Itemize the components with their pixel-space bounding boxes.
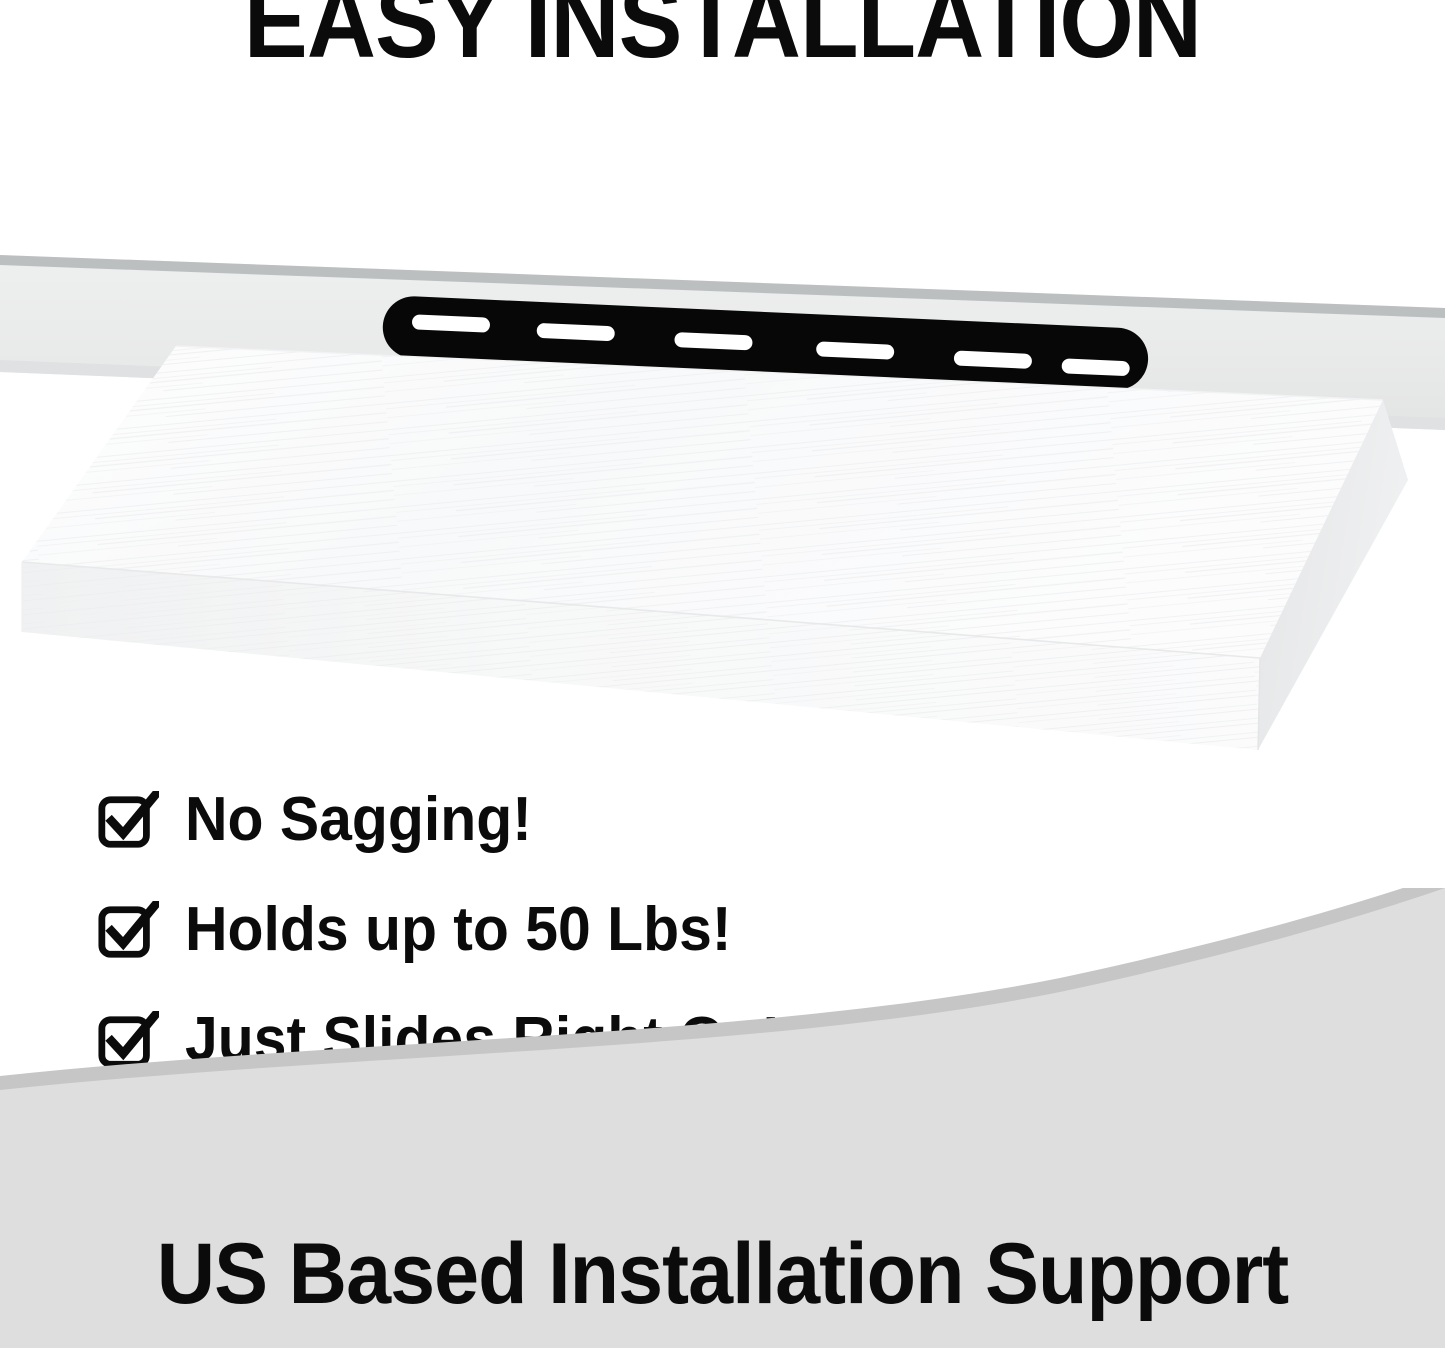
- product-infographic: EASY INSTALLATION: [0, 0, 1445, 1348]
- list-item: No Sagging!: [97, 765, 997, 875]
- footer-support-text: US Based Installation Support: [43, 1228, 1401, 1320]
- feature-label: No Sagging!: [185, 789, 532, 851]
- product-illustration: [0, 150, 1445, 790]
- checkbox-checked-icon: [97, 791, 159, 853]
- checkbox-checked-icon: [97, 1011, 159, 1073]
- checkbox-checked-icon: [97, 901, 159, 963]
- shelf-bracket-scene: [0, 150, 1445, 790]
- feature-label: Holds up to 50 Lbs!: [185, 899, 731, 961]
- feature-list: No Sagging! Holds up to 50 Lbs! Just Sli…: [97, 765, 997, 1095]
- list-item: Just Slides Right On!: [97, 985, 997, 1095]
- page-title: EASY INSTALLATION: [58, 0, 1387, 74]
- feature-label: Just Slides Right On!: [185, 1009, 781, 1071]
- list-item: Holds up to 50 Lbs!: [97, 875, 997, 985]
- bracket-slot: [1061, 358, 1130, 376]
